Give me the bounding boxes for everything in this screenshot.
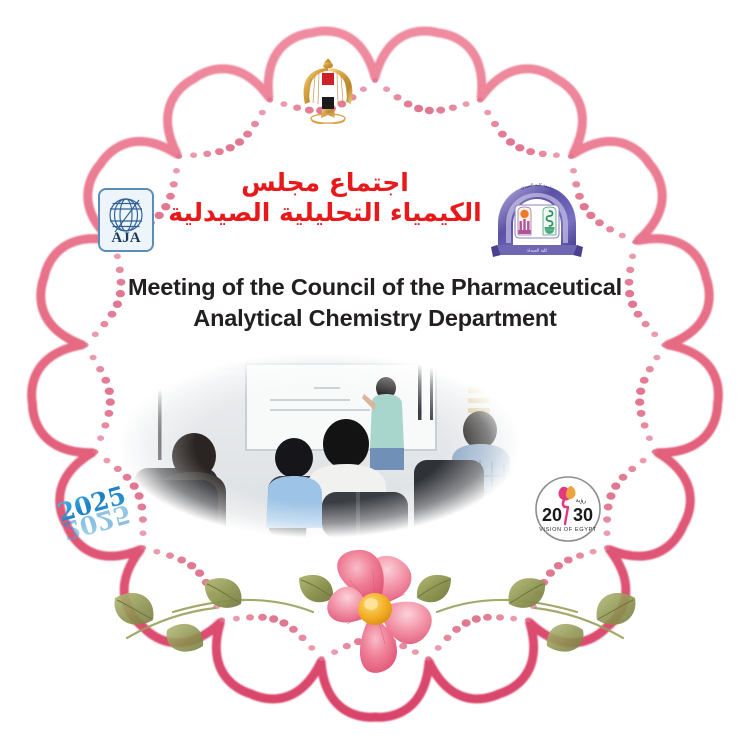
poster-canvas: AJA جامعة كلية الصيدلة — [0, 0, 750, 750]
scallop-dot — [449, 105, 457, 111]
scallop-dot — [106, 398, 115, 405]
scallop-dot — [267, 98, 273, 103]
scallop-dot — [251, 121, 259, 127]
scallop-dot — [652, 449, 658, 454]
scallop-dot — [661, 343, 667, 348]
classroom-photo — [118, 352, 522, 538]
scallop-dot — [586, 212, 595, 219]
scallop-dot — [101, 377, 110, 384]
scallop-dot — [570, 168, 577, 174]
scallop-dot — [619, 233, 626, 239]
scallop-dot — [539, 151, 547, 157]
scallop-dot — [640, 458, 647, 464]
arabic-title: اجتماع مجلس الكيمياء التحليلية الصيدلية — [155, 168, 495, 227]
scallop-dot — [484, 110, 491, 116]
scallop-dot — [629, 253, 636, 259]
english-title-line-2: Analytical Chemistry Department — [60, 303, 690, 334]
egypt-coat-of-arms-icon — [297, 52, 359, 124]
scallop-dot — [635, 398, 644, 405]
scallop-dot — [611, 482, 620, 489]
scallop-dot — [661, 343, 667, 348]
scallop-dot — [383, 86, 390, 92]
english-title-line-1: Meeting of the Council of the Pharmaceut… — [60, 272, 690, 303]
flower-decoration — [55, 520, 695, 700]
scallop-dot — [190, 152, 197, 158]
english-title: Meeting of the Council of the Pharmaceut… — [60, 272, 690, 334]
scallop-dot — [436, 107, 445, 114]
scallop-dot — [640, 377, 649, 384]
scallop-dot — [632, 240, 638, 245]
university-seal-icon: جامعة كلية الصيدلة كلي — [487, 181, 587, 261]
scallop-dot — [646, 366, 654, 372]
scallop-dot — [414, 105, 423, 112]
scallop-dot — [604, 504, 613, 511]
scallop-dot — [568, 154, 574, 159]
scallop-dot — [203, 151, 211, 157]
scallop-dot — [372, 78, 378, 83]
scallop-dot — [641, 422, 649, 428]
scallop-dot — [637, 410, 646, 417]
scallop-dot — [491, 121, 499, 127]
scallop-dot — [506, 138, 515, 145]
aja-logo-caption: AJA — [111, 230, 140, 246]
scallop-dot — [477, 98, 483, 103]
scallop-dot — [372, 78, 378, 83]
scallop-dot — [425, 107, 434, 114]
scallop-dot — [92, 449, 98, 454]
scallop-dot — [90, 355, 97, 361]
scallop-dot — [595, 219, 604, 226]
svg-text:كلية الصيدلة: كلية الصيدلة — [527, 248, 547, 253]
scallop-dot — [101, 422, 109, 428]
scallop-dot — [463, 101, 470, 107]
scallop-dot — [114, 253, 121, 259]
scallop-dot — [176, 154, 182, 159]
scallop-dot — [568, 154, 574, 159]
scallop-dot — [646, 435, 653, 441]
arabic-title-line-2: الكيمياء التحليلية الصيدلية — [155, 198, 495, 228]
scallop-dot — [653, 355, 660, 361]
scallop-dot — [176, 154, 182, 159]
scallop-dot — [226, 144, 235, 151]
scallop-dot — [96, 366, 104, 372]
scallop-dot — [243, 131, 252, 138]
arabic-title-line-1: اجتماع مجلس — [155, 168, 495, 198]
scallop-dot — [259, 110, 266, 116]
scallop-dot — [360, 86, 367, 92]
scallop-dot — [632, 240, 638, 245]
scallop-dot — [652, 449, 658, 454]
scallop-dot — [103, 458, 110, 464]
scallop-dot — [515, 144, 524, 151]
scallop-dot — [97, 435, 104, 441]
scallop-dot — [215, 148, 224, 155]
scallop-dot — [267, 98, 273, 103]
scallop-dot — [105, 410, 114, 417]
scallop-dot — [83, 343, 89, 348]
vision-2030-arabic-tag: رؤية — [576, 497, 587, 504]
scallop-dot — [498, 131, 507, 138]
scallop-dot — [606, 226, 614, 232]
scallop-dot — [92, 449, 98, 454]
scallop-dot — [526, 148, 535, 155]
scallop-dot — [628, 466, 636, 472]
scallop-dot — [606, 492, 615, 499]
scallop-dot — [235, 138, 244, 145]
scallop-dot — [636, 388, 645, 395]
scallop-dot — [553, 152, 560, 158]
scallop-dot — [105, 388, 114, 395]
scallop-dot — [280, 101, 287, 107]
scallop-dot — [477, 98, 483, 103]
scallop-dot — [619, 474, 628, 481]
scallop-dot — [404, 101, 413, 108]
scallop-dot — [394, 94, 402, 100]
scallop-dot — [83, 343, 89, 348]
